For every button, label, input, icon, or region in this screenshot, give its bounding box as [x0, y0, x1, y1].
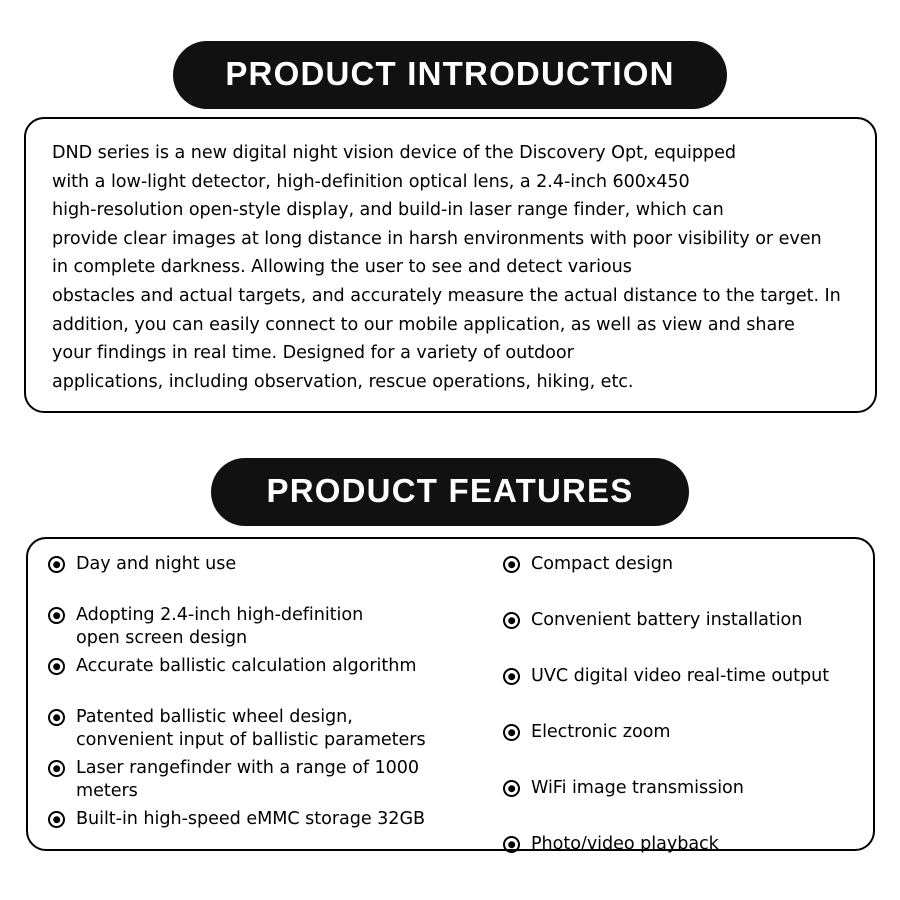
feature-list-item: Photo/video playback	[503, 833, 897, 885]
feature-list-item: Electronic zoom	[503, 721, 897, 773]
feature-label: Patented ballistic wheel design, conveni…	[76, 706, 426, 752]
feature-list-item: Adopting 2.4-inch high-definition open s…	[48, 604, 503, 651]
feature-label: Built-in high-speed eMMC storage 32GB	[76, 808, 425, 831]
feature-list-item: Accurate ballistic calculation algorithm	[48, 655, 503, 702]
intro-paragraph-line: DND series is a new digital night vision…	[52, 139, 849, 168]
fisheye-bullet-icon	[48, 556, 65, 573]
fisheye-bullet-icon	[503, 724, 520, 741]
feature-label: Laser rangefinder with a range of 1000 m…	[76, 757, 419, 803]
feature-list-item: Compact design	[503, 553, 897, 605]
feature-label: WiFi image transmission	[531, 777, 744, 800]
fisheye-bullet-icon	[48, 709, 65, 726]
feature-list-item: Day and night use	[48, 553, 503, 600]
features-left-column: Day and night use Adopting 2.4-inch high…	[28, 553, 503, 849]
product-introduction-banner: PRODUCT INTRODUCTION	[0, 41, 900, 109]
intro-paragraph-line: provide clear images at long distance in…	[52, 225, 849, 254]
feature-list-item: Laser rangefinder with a range of 1000 m…	[48, 757, 503, 804]
intro-paragraph-line: obstacles and actual targets, and accura…	[52, 282, 849, 311]
fisheye-bullet-icon	[503, 668, 520, 685]
feature-label: Convenient battery installation	[531, 609, 802, 632]
product-features-banner: PRODUCT FEATURES	[0, 458, 900, 526]
feature-label: Accurate ballistic calculation algorithm	[76, 655, 416, 678]
feature-label: UVC digital video real-time output	[531, 665, 829, 688]
fisheye-bullet-icon	[503, 836, 520, 853]
features-right-column: Compact design Convenient battery instal…	[503, 553, 897, 849]
fisheye-bullet-icon	[503, 780, 520, 797]
feature-list-item: UVC digital video real-time output	[503, 665, 897, 717]
feature-list-item: Built-in high-speed eMMC storage 32GB	[48, 808, 503, 855]
feature-label: Photo/video playback	[531, 833, 719, 856]
feature-label: Electronic zoom	[531, 721, 670, 744]
product-introduction-card: DND series is a new digital night vision…	[24, 117, 877, 413]
product-introduction-banner-label: PRODUCT INTRODUCTION	[173, 41, 726, 109]
feature-list-item: Convenient battery installation	[503, 609, 897, 661]
intro-paragraph-line: with a low-light detector, high-definiti…	[52, 168, 849, 197]
fisheye-bullet-icon	[48, 607, 65, 624]
product-features-card: Day and night use Adopting 2.4-inch high…	[26, 537, 875, 851]
fisheye-bullet-icon	[503, 556, 520, 573]
fisheye-bullet-icon	[48, 760, 65, 777]
intro-paragraph-line: in complete darkness. Allowing the user …	[52, 253, 849, 282]
feature-list-item: Patented ballistic wheel design, conveni…	[48, 706, 503, 753]
intro-paragraph-line: addition, you can easily connect to our …	[52, 311, 849, 340]
product-features-banner-label: PRODUCT FEATURES	[211, 458, 690, 526]
feature-label: Compact design	[531, 553, 673, 576]
intro-paragraph-line: your findings in real time. Designed for…	[52, 339, 849, 368]
feature-label: Day and night use	[76, 553, 236, 576]
feature-list-item: WiFi image transmission	[503, 777, 897, 829]
intro-paragraph-line: applications, including observation, res…	[52, 368, 849, 397]
feature-label: Adopting 2.4-inch high-definition open s…	[76, 604, 363, 650]
fisheye-bullet-icon	[503, 612, 520, 629]
fisheye-bullet-icon	[48, 658, 65, 675]
fisheye-bullet-icon	[48, 811, 65, 828]
intro-paragraph-line: high-resolution open-style display, and …	[52, 196, 849, 225]
